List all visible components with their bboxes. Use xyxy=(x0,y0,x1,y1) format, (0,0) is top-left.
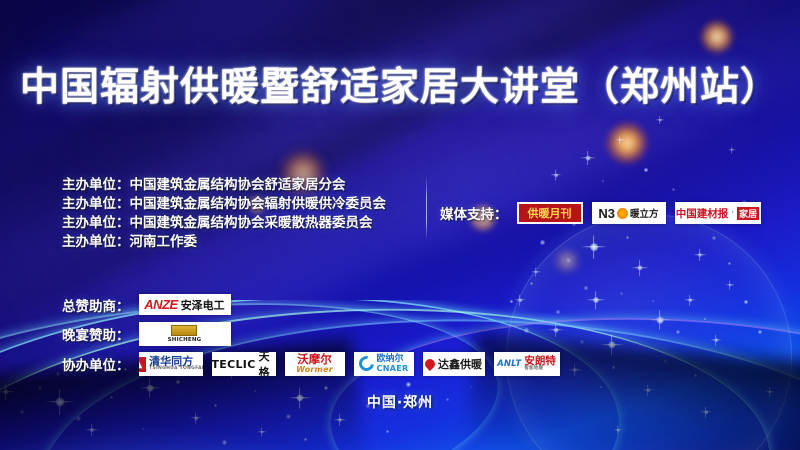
tsinghua-mark-icon: ▲ xyxy=(139,357,147,372)
flower-icon xyxy=(617,208,628,219)
anlt-en-text: ANLT xyxy=(497,359,521,369)
crest-icon xyxy=(171,325,197,336)
organizer-line: 主办单位：中国建筑金属结构协会采暖散热器委员会 xyxy=(62,214,386,233)
media-support-label: 媒体支持： xyxy=(440,203,508,223)
n3-brand-text: N3 xyxy=(598,206,615,221)
footer-city-label: 中国·郑州 xyxy=(0,392,800,412)
poster-canvas: 中国辐射供暖暨舒适家居大讲堂（郑州站） 主办单位：中国建筑金属结构协会舒适家居分… xyxy=(0,0,800,450)
tsinghua-en-text: TSINGHUA TONGFANG xyxy=(149,367,202,372)
tsinghua-tongfang-logo: ▲ 清华同方 TSINGHUA TONGFANG xyxy=(139,352,203,376)
organizer-line: 主办单位：河南工作委 xyxy=(62,233,386,252)
flame-icon xyxy=(423,357,437,371)
anze-diangong-logo: ANZE 安泽电工 xyxy=(139,294,231,315)
daxin-cn-text: 达鑫供暖 xyxy=(438,356,482,372)
organizer-list: 主办单位：中国建筑金属结构协会舒适家居分会 主办单位：中国建筑金属结构协会辐射供… xyxy=(62,176,386,252)
jiaju-text: 家居 xyxy=(737,207,759,220)
vertical-divider xyxy=(426,176,427,240)
anze-cn-text: 安泽电工 xyxy=(181,297,225,313)
teclic-cn-text: 天格 xyxy=(259,352,276,376)
cnaer-logo: 欧纳尔 CNAER xyxy=(354,352,414,376)
anlt-anlangte-logo: ANLT 安朗特 智能地暖 xyxy=(494,352,560,376)
zhongguo-jiaju-logo: 中国建材报 · 家居 xyxy=(675,202,761,224)
shicheng-logo: SHICHENG xyxy=(139,322,231,346)
cnaer-en-text: CNAER xyxy=(377,365,409,373)
gongnuan-yuekan-logo-text: 供暖月刊 xyxy=(528,205,572,221)
dinner-sponsor-row: 晚宴赞助： SHICHENG xyxy=(62,322,231,346)
cnaer-ring-icon xyxy=(356,354,377,375)
daxin-gongnuan-logo: 达鑫供暖 xyxy=(423,352,485,376)
anlt-sub-text: 智能地暖 xyxy=(524,367,556,372)
wormer-logo: 沃摩尔 Wormer xyxy=(285,352,345,376)
page-title: 中国辐射供暖暨舒适家居大讲堂（郑州站） xyxy=(0,68,800,107)
gongnuan-yuekan-logo: 供暖月刊 xyxy=(517,202,583,224)
anze-wordmark: ANZE xyxy=(144,297,177,312)
poster-content: 中国辐射供暖暨舒适家居大讲堂（郑州站） 主办单位：中国建筑金属结构协会舒适家居分… xyxy=(0,0,800,450)
teclic-en-text: TECLIC xyxy=(212,358,256,371)
teclic-tiange-logo: TECLIC 天格 xyxy=(212,352,276,376)
organizer-line: 主办单位：中国建筑金属结构协会舒适家居分会 xyxy=(62,176,386,195)
dinner-sponsor-label: 晚宴赞助： xyxy=(62,324,130,344)
dot-separator-icon: · xyxy=(731,208,734,218)
nuanlifang-text: 暖立方 xyxy=(630,206,659,220)
wormer-en-text: Wormer xyxy=(296,366,333,374)
main-sponsor-label: 总赞助商： xyxy=(62,295,130,315)
shicheng-en-text: SHICHENG xyxy=(168,337,202,343)
media-support-row: 媒体支持： 供暖月刊 N3 暖立方 中国建材报 · 家居 xyxy=(440,202,761,224)
organizer-line: 主办单位：中国建筑金属结构协会辐射供暖供冷委员会 xyxy=(62,195,386,214)
jiancaibao-text: 中国建材报 xyxy=(676,206,729,221)
co-organizer-label: 协办单位： xyxy=(62,354,130,374)
main-sponsor-row: 总赞助商： ANZE 安泽电工 xyxy=(62,294,231,315)
co-organizer-row: 协办单位： ▲ 清华同方 TSINGHUA TONGFANG TECLIC 天格 xyxy=(62,352,560,376)
n3-nuanlifang-logo: N3 暖立方 xyxy=(592,202,666,224)
